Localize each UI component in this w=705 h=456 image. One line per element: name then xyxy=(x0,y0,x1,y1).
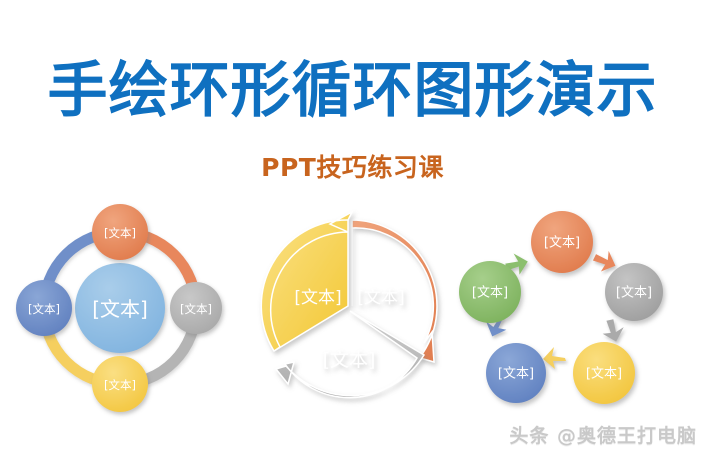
pentagon-node-right[interactable]: [文本] xyxy=(605,263,663,321)
pie-segment-upper-left-label: [文本] xyxy=(294,288,341,308)
pie-segment-bottom-label: [文本] xyxy=(323,349,376,371)
ring-node-right[interactable]: [文本] xyxy=(170,282,222,334)
ring-node-bottom-label: [文本] xyxy=(104,378,136,392)
ring-node-top[interactable]: [文本] xyxy=(92,204,148,260)
pentagon-node-bottom-left-label: [文本] xyxy=(498,367,534,382)
ring-node-left-label: [文本] xyxy=(28,302,60,316)
page-subtitle: PPT技巧练习课 xyxy=(0,152,705,184)
pie-segment-upper-left[interactable]: [文本] xyxy=(261,212,352,351)
page-title: 手绘环形循环图形演示 xyxy=(0,55,705,127)
pentagon-arrow-right-to-bottom-right xyxy=(599,316,628,345)
pentagon-node-top-label: [文本] xyxy=(544,236,580,251)
pentagon-node-right-label: [文本] xyxy=(616,286,652,301)
pentagon-arrow-bottom-right-to-bottom-left xyxy=(543,347,566,369)
pentagon-node-top[interactable]: [文本] xyxy=(531,211,593,273)
pie-segment-upper-left-shape xyxy=(261,212,352,351)
diagram-ring-cycle[interactable]: [文本] [文本] [文本] [文本] [文本] xyxy=(6,198,234,418)
pentagon-node-bottom-right[interactable]: [文本] xyxy=(573,342,635,404)
ring-node-center[interactable]: [文本] xyxy=(75,263,165,353)
pentagon-node-left-label: [文本] xyxy=(472,286,508,301)
diagram-pentagon-cycle[interactable]: [文本] [文本] [文本] [文本] [文本] xyxy=(462,206,700,414)
ring-node-center-label: [文本] xyxy=(92,297,148,321)
diagram-pie-cycle[interactable]: [文本] [文本] [文本] xyxy=(248,212,453,407)
pentagon-node-bottom-right-label: [文本] xyxy=(586,367,622,382)
watermark-text: 头条 @奥德王打电脑 xyxy=(509,421,697,448)
ring-node-right-label: [文本] xyxy=(180,302,212,316)
ring-node-left[interactable]: [文本] xyxy=(16,280,72,336)
ring-node-top-label: [文本] xyxy=(104,226,136,240)
pentagon-node-bottom-left[interactable]: [文本] xyxy=(486,343,546,403)
pie-segment-upper-right-label: [文本] xyxy=(357,288,404,308)
pentagon-node-left[interactable]: [文本] xyxy=(459,261,521,323)
ring-node-bottom[interactable]: [文本] xyxy=(92,356,148,412)
